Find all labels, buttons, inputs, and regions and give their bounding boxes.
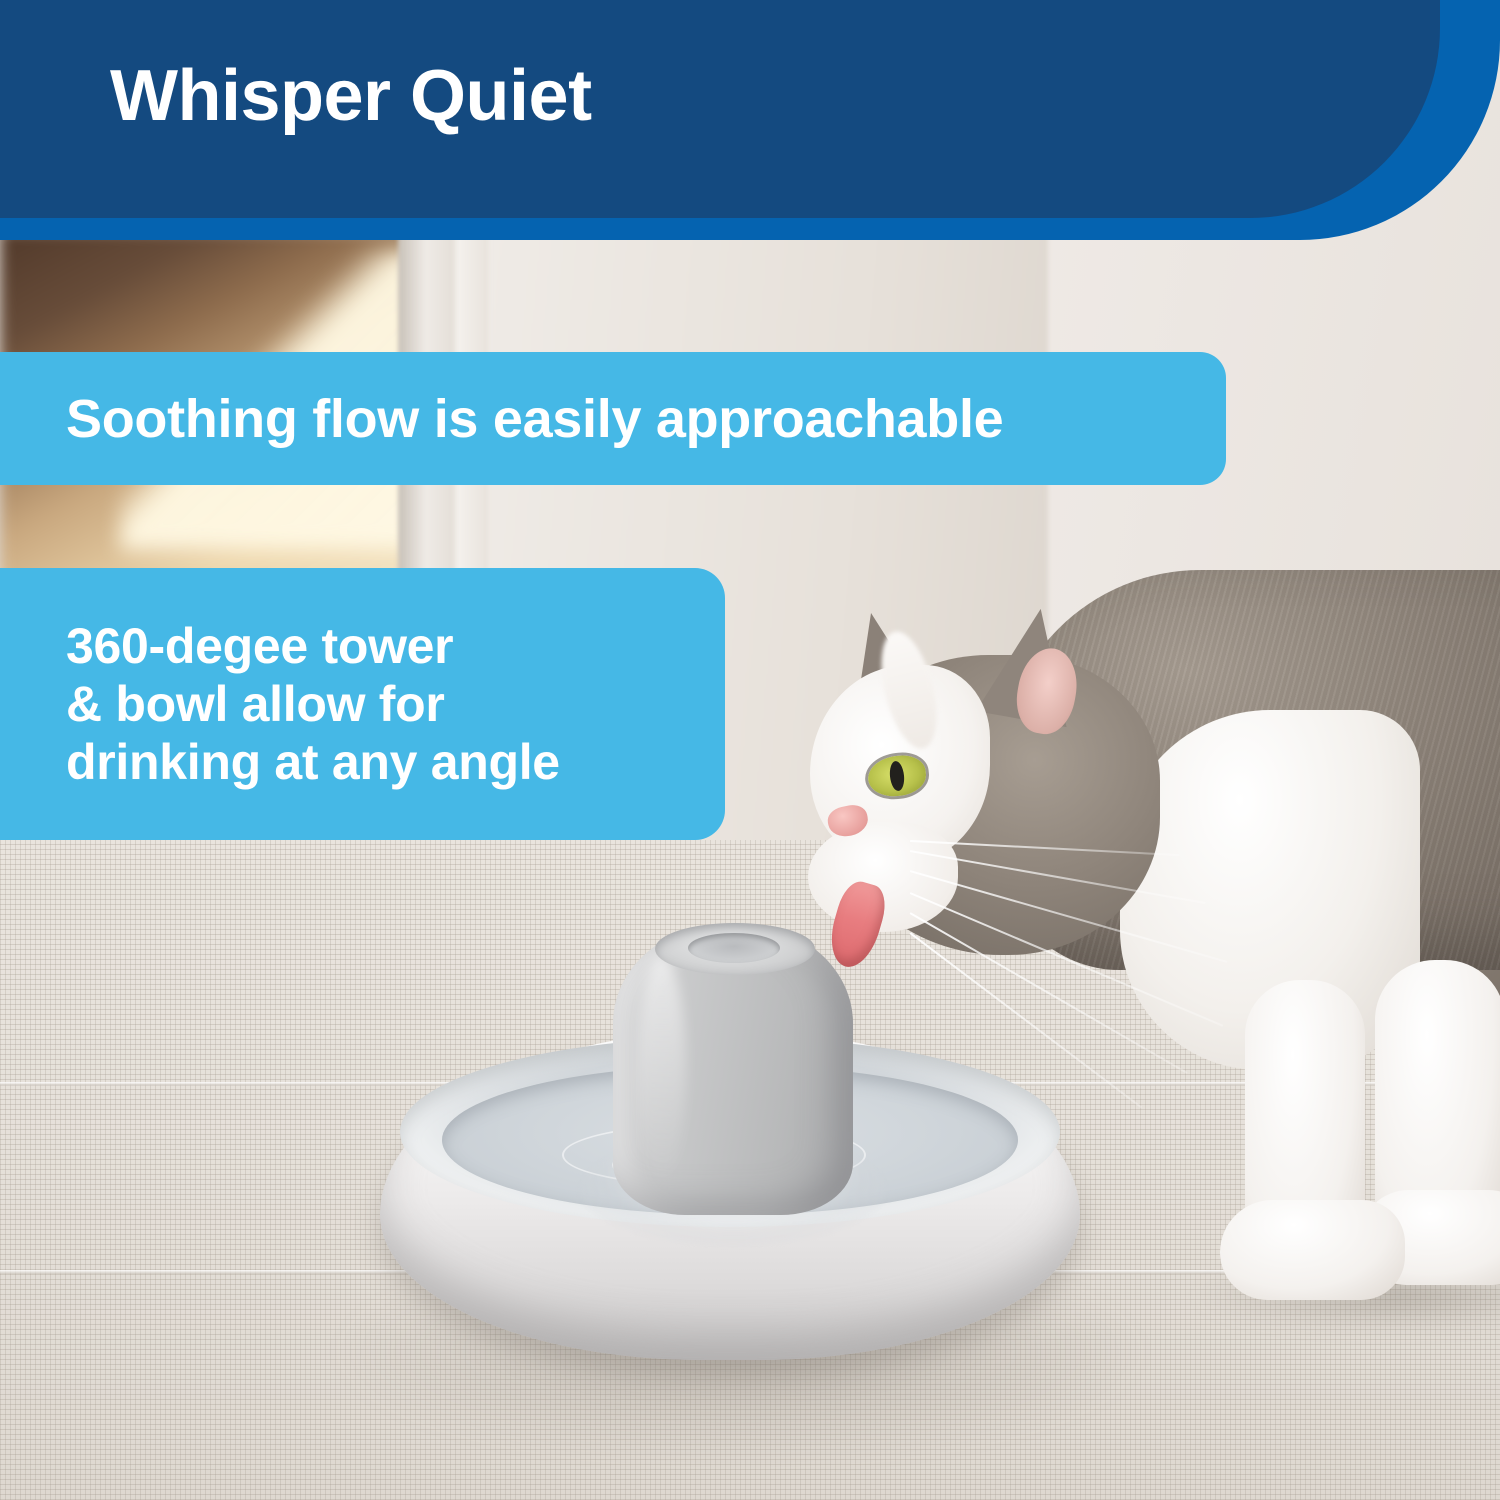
feature-callout-lines: 360-degee tower & bowl allow for drinkin… [66, 617, 560, 791]
fountain-tower-opening [688, 933, 780, 963]
page-title: Whisper Quiet [110, 60, 592, 132]
cat-pupil [888, 760, 905, 791]
feature-callout-360-tower: 360-degee tower & bowl allow for drinkin… [0, 568, 725, 840]
feature-callout-soothing-flow: Soothing flow is easily approachable [0, 352, 1226, 485]
feature-callout-label: Soothing flow is easily approachable [66, 388, 1003, 450]
feature-callout-line-2: & bowl allow for [66, 675, 560, 733]
feature-callout-line-3: drinking at any angle [66, 733, 560, 791]
pet-water-fountain [370, 915, 1090, 1435]
tower-highlight [638, 955, 686, 1185]
cat-paw-front [1220, 1200, 1405, 1300]
feature-callout-line-1: 360-degee tower [66, 617, 560, 675]
product-feature-graphic: Whisper Quiet Soothing flow is easily ap… [0, 0, 1500, 1500]
